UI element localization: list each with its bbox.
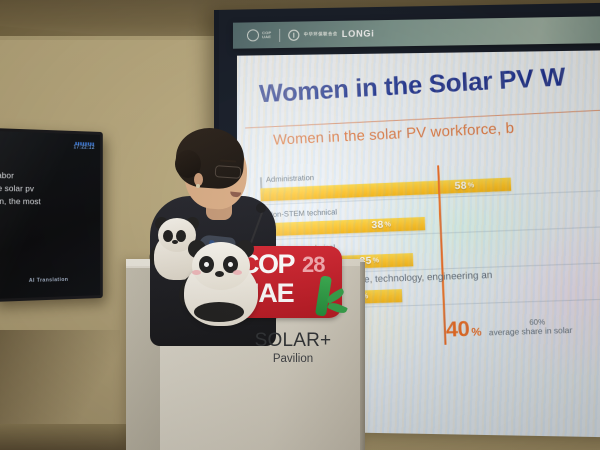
solar-pavilion-sign: SOLAR+ Pavilion (228, 330, 358, 365)
cop28-mark-icon: COP UAE (247, 29, 271, 41)
cop-number: 28 (302, 252, 324, 278)
pavilion-subtitle: Pavilion (228, 353, 358, 365)
longi-brand: LONGi (342, 28, 375, 39)
bar-unit: % (468, 182, 475, 189)
bar-value: 58 (454, 180, 467, 192)
pavilion-name: SOLAR+ (228, 330, 358, 352)
cop28-uae-sign: COP 28 UAE (178, 240, 346, 328)
panda-blush-left (192, 270, 201, 275)
cop-panda-mascot (178, 240, 266, 328)
bar-value-label: 38% (371, 218, 391, 232)
monitor-screen (0, 131, 100, 299)
partner-name-cn: 中华环保联合会 (304, 31, 338, 38)
panda-eye-left (199, 256, 214, 273)
bar-value-label: 58% (454, 179, 475, 193)
cop-mark-text: COP UAE (262, 31, 271, 40)
panda-nose (215, 271, 224, 277)
speaker-glasses (215, 165, 242, 179)
category-label: Non-STEM technical (267, 207, 337, 219)
cop-mark-line2: UAE (262, 35, 271, 39)
screen-banner: COP UAE 中华环保联合会 LONGi (233, 16, 600, 49)
bar-value: 38 (371, 220, 383, 232)
average-annotation: 40 % average share in solar (445, 314, 572, 342)
average-value: 40 (445, 317, 469, 342)
ai-translation-monitor: ▮▮▮▮▮▮▮▮ 17:22:12 al Labor n the solar p… (0, 128, 103, 302)
globe-icon (247, 29, 259, 41)
average-text: average share in solar (489, 326, 573, 338)
banner-divider (279, 28, 280, 41)
clock-timestamp: 17:22:12 (74, 146, 95, 152)
bar-unit: % (373, 257, 380, 264)
speaker-earring (196, 184, 200, 188)
podium-right-edge (360, 262, 365, 450)
microphone-head-icon (256, 203, 266, 213)
category-label: Administration (266, 173, 314, 184)
caption-english: al Labor n the solar pv egion, the most (0, 169, 97, 209)
bar-unit: % (384, 221, 391, 228)
monitor-clock: ▮▮▮▮▮▮▮▮ 17:22:12 (74, 142, 95, 152)
slide-title: Women in the Solar PV W (259, 63, 566, 110)
panda-blush-right (233, 270, 242, 275)
partner-emblem-icon (289, 29, 300, 40)
partner-logo: 中华环保联合会 LONGi (289, 28, 375, 40)
average-unit: % (471, 326, 482, 339)
conference-photo-scene: ▮▮▮▮▮▮▮▮ 17:22:12 al Labor n the solar p… (0, 0, 600, 450)
panda-leg (194, 302, 244, 322)
